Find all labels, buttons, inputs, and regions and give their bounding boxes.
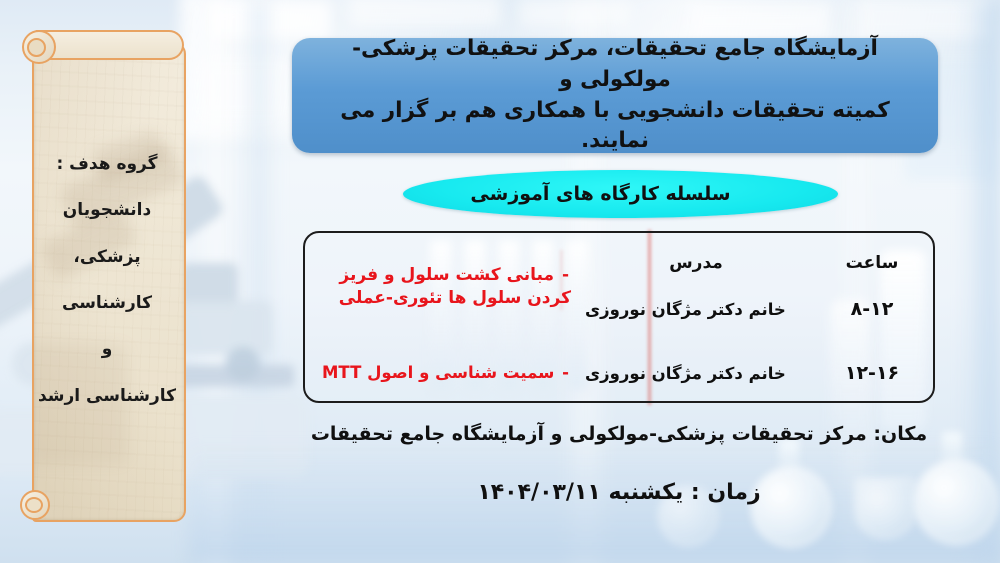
table-row-2-bullet-dash: - <box>562 363 569 382</box>
table-header-instructor: مدرس <box>581 233 811 277</box>
table-row-1-time: ۸-۱۲ <box>811 277 933 341</box>
schedule-table: ساعت مدرس ۸-۱۲ خانم دکتر مژگان نوروزی ۱۲… <box>303 231 935 403</box>
target-group-item-2: پزشکی، <box>73 247 140 267</box>
table-row-2-instructor: خانم دکتر مژگان نوروزی <box>581 341 811 405</box>
background-panel <box>690 4 830 38</box>
workshop-series-title: سلسله کارگاه های آموزشی <box>470 183 770 205</box>
target-group-item-1: دانشجویان <box>63 200 151 220</box>
table-row-2-topic: - سمیت شناسی و اصول MTT <box>301 341 581 405</box>
organizers-header-line-1: آزمایشگاه جامع تحقیقات، مرکز تحقیقات پزش… <box>314 34 916 95</box>
table-header-time: ساعت <box>811 233 933 277</box>
target-group-label: گروه هدف : <box>56 154 157 174</box>
organizers-header-line-2: کمیته تحقیقات دانشجویی با همکاری هم بر گ… <box>314 96 916 157</box>
table-row-1-bullet-dash: - <box>562 265 569 285</box>
table-row-2-topic-line-1: سمیت شناسی و اصول MTT <box>322 363 554 382</box>
background-panel <box>350 0 500 26</box>
target-group-item-4: و <box>102 339 113 359</box>
organizers-header-text: آزمایشگاه جامع تحقیقات، مرکز تحقیقات پزش… <box>314 34 916 156</box>
target-group-scroll-panel: گروه هدف : دانشجویان پزشکی، کارشناسی و ک… <box>22 30 192 530</box>
event-datetime-text: زمان : یکشنبه ۱۴۰۴/۰۳/۱۱ <box>300 480 938 505</box>
table-row-1-topic-line-2: کردن سلول ها تئوری-عملی <box>307 287 571 310</box>
table-row-1-topic-line-1: مبانی کشت سلول و فریز <box>339 265 554 285</box>
target-group-text-block: گروه هدف : دانشجویان پزشکی، کارشناسی و ک… <box>32 42 182 518</box>
poster-canvas: گروه هدف : دانشجویان پزشکی، کارشناسی و ک… <box>0 0 1000 563</box>
background-flask <box>735 455 845 555</box>
table-row-1-instructor: خانم دکتر مژگان نوروزی <box>581 277 811 341</box>
target-group-item-3: کارشناسی <box>62 293 152 313</box>
event-location-text: مکان: مرکز تحقیقات پزشکی-مولکولی و آزمای… <box>300 423 938 445</box>
organizers-header-box: آزمایشگاه جامع تحقیقات، مرکز تحقیقات پزش… <box>292 38 938 153</box>
table-row-1-topic: - مبانی کشت سلول و فریز کردن سلول ها تئو… <box>301 233 581 341</box>
table-row-2-time: ۱۲-۱۶ <box>811 341 933 405</box>
target-group-item-5: کارشناسی ارشد <box>38 386 176 406</box>
workshop-series-banner: سلسله کارگاه های آموزشی <box>403 170 838 218</box>
